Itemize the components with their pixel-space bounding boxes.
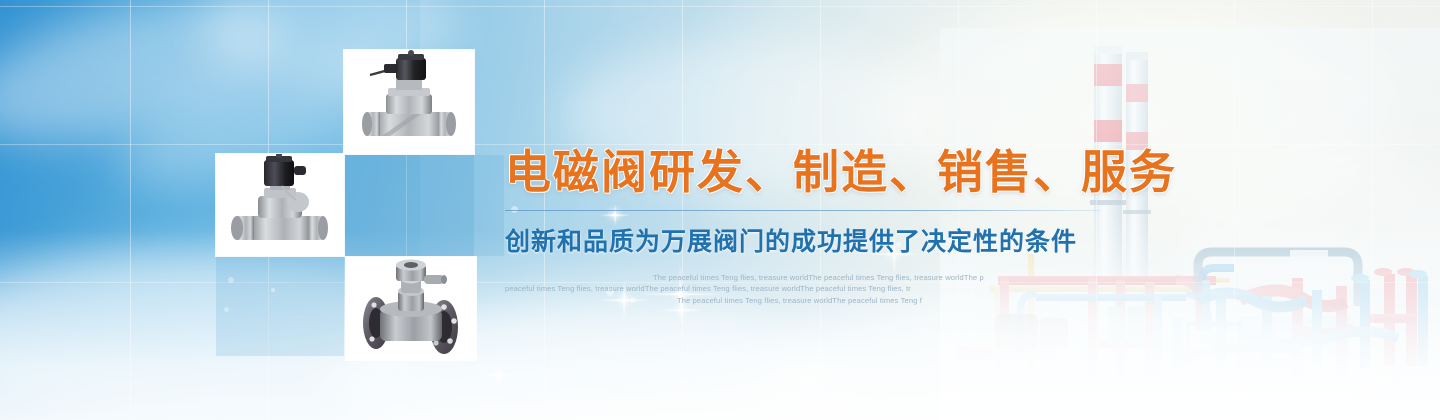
hero-blurb: The peaceful times Teng flies, treasure … — [505, 272, 1145, 307]
blurb-line-2: peaceful times Teng flies, treasure worl… — [505, 283, 1145, 295]
product-card-valve-3[interactable] — [346, 257, 476, 360]
hero-copy: 电磁阀研发、制造、销售、服务 创新和品质为万展阀门的成功提供了决定性的条件 Th… — [505, 148, 1145, 306]
blurb-line-1: The peaceful times Teng flies, treasure … — [653, 272, 1145, 284]
hero-subheadline: 创新和品质为万展阀门的成功提供了决定性的条件 — [505, 222, 1145, 258]
product-card-valve-1[interactable] — [344, 50, 474, 154]
product-card-valve-2[interactable] — [216, 154, 344, 256]
headline-divider — [505, 210, 1100, 211]
hero-banner: 电磁阀研发、制造、销售、服务 创新和品质为万展阀门的成功提供了决定性的条件 Th… — [0, 0, 1440, 420]
hero-headline: 电磁阀研发、制造、销售、服务 — [505, 148, 1145, 198]
blurb-line-3: The peaceful times Teng flies, treasure … — [677, 295, 1145, 307]
